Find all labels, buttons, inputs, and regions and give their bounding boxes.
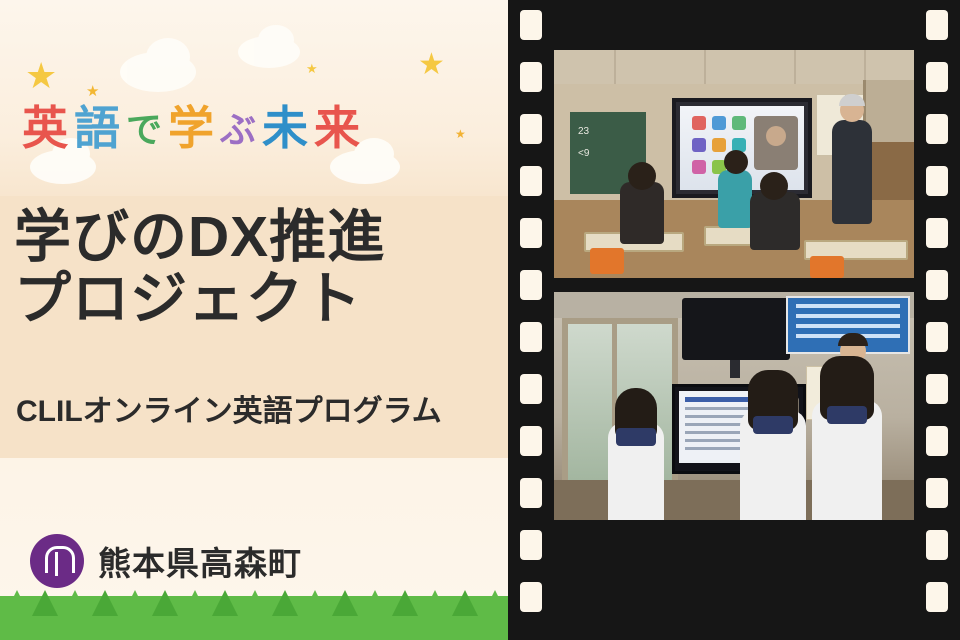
title-char: 来	[314, 92, 362, 158]
title-char: 英	[22, 92, 70, 158]
headline-line-1: 学びのDX推進	[14, 205, 385, 269]
decorative-title: 英語で学ぶ未来	[22, 92, 492, 166]
poster-canvas: ★ ★ ★ ★ ★ 英語で学ぶ未来 学びのDX推進 プロジェクト CLILオンラ…	[0, 0, 960, 640]
town-name-label: 熊本県高森町	[98, 537, 302, 585]
board-text: <9	[578, 148, 589, 159]
left-content-panel: ★ ★ ★ ★ ★ 英語で学ぶ未来 学びのDX推進 プロジェクト CLILオンラ…	[0, 0, 508, 640]
student-figure	[608, 422, 664, 520]
cloud-icon	[120, 52, 196, 92]
grass-decoration	[0, 596, 508, 640]
student-figure	[812, 400, 882, 520]
star-icon: ★	[306, 62, 318, 75]
filmstrip-panel: 23 <9	[508, 0, 960, 640]
title-char: ぶ	[220, 101, 258, 153]
town-logo-icon	[30, 534, 84, 588]
page-title: 学びのDX推進 プロジェクト	[14, 206, 494, 330]
wall-monitor	[682, 298, 790, 360]
cloud-icon	[238, 36, 300, 68]
title-char: 語	[74, 92, 122, 158]
title-char: 学	[168, 92, 216, 158]
star-icon: ★	[418, 50, 445, 80]
student-figure	[740, 410, 806, 520]
headline-line-2: プロジェクト	[14, 268, 494, 330]
board-text: 23	[578, 126, 589, 137]
title-char: 未	[262, 92, 310, 158]
title-char: で	[126, 101, 164, 153]
star-icon: ★	[25, 58, 57, 94]
subtitle: CLILオンライン英語プログラム	[16, 386, 496, 430]
town-logo-row: 熊本県高森町	[30, 534, 302, 588]
photo-junior-high-classroom	[554, 292, 914, 520]
photo-elementary-classroom: 23 <9	[554, 50, 914, 278]
teacher-figure	[832, 120, 872, 224]
